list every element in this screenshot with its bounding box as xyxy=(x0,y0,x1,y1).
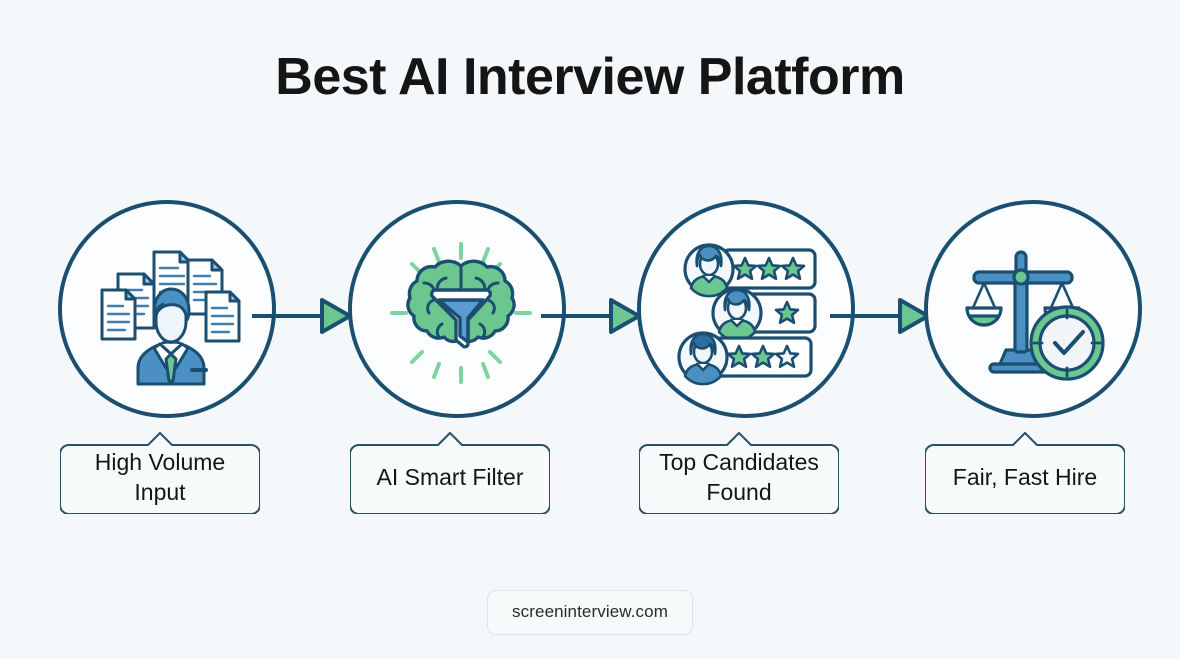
flow-step-4 xyxy=(924,200,1150,426)
arrow-right-icon-1 xyxy=(252,296,356,336)
label-text-step-2: AI Smart Filter xyxy=(350,432,550,514)
candidate-star-ratings-icon xyxy=(675,238,825,388)
brain-funnel-ai-filter-icon xyxy=(386,238,536,388)
label-box-step-3[interactable]: Top Candidates Found xyxy=(639,432,839,514)
flow-step-1 xyxy=(58,200,284,426)
infographic-canvas: Best AI Interview Platform xyxy=(0,0,1180,659)
label-box-step-1[interactable]: High Volume Input xyxy=(60,432,260,514)
rating-row-3 xyxy=(679,333,811,384)
footer-website-badge[interactable]: screeninterview.com xyxy=(487,590,693,635)
arrow-right-icon-2 xyxy=(541,296,645,336)
balance-scale-clock-icon xyxy=(962,238,1112,388)
high-volume-documents-person-icon xyxy=(96,238,246,388)
page-title: Best AI Interview Platform xyxy=(0,48,1180,108)
step-labels: High Volume Input AI Smart Filter Top Ca… xyxy=(0,432,1180,532)
label-box-step-2[interactable]: AI Smart Filter xyxy=(350,432,550,514)
label-text-step-1: High Volume Input xyxy=(60,432,260,514)
label-box-step-4[interactable]: Fair, Fast Hire xyxy=(925,432,1125,514)
rating-row-2 xyxy=(713,289,815,340)
arrow-right-icon-3 xyxy=(830,296,934,336)
rating-row-1 xyxy=(685,245,815,296)
label-text-step-4: Fair, Fast Hire xyxy=(925,432,1125,514)
process-flow xyxy=(0,200,1180,430)
label-text-step-3: Top Candidates Found xyxy=(639,432,839,514)
